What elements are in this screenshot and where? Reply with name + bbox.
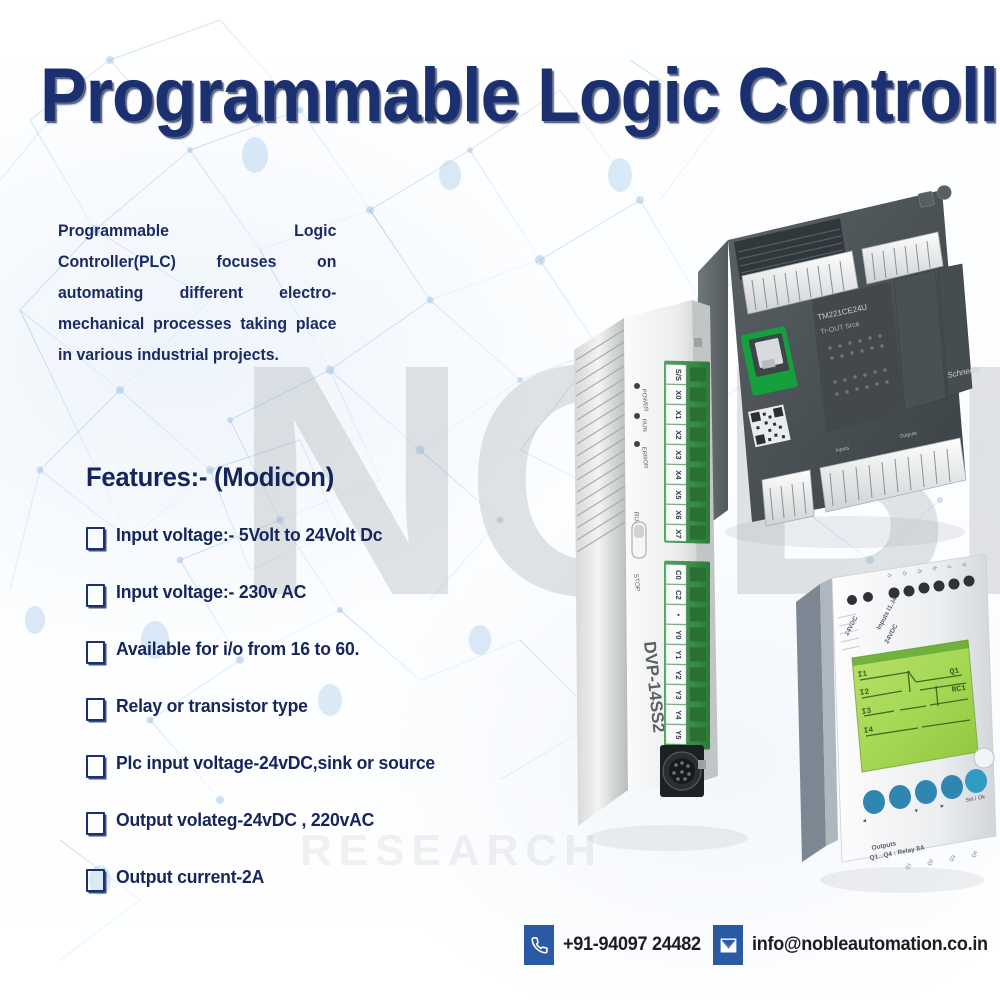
svg-text:C0: C0 [674,570,683,580]
svg-text:S/S: S/S [674,369,683,381]
svg-text:I1: I1 [857,670,868,680]
svg-text:X1: X1 [674,410,683,419]
checkbox-bullet-icon [86,641,105,664]
phone-number: +91-94097 24482 [563,934,701,956]
list-item: Plc input voltage-24vDC,sink or source [86,752,516,809]
svg-text:X7: X7 [674,529,683,538]
features-list: Input voltage:- 5Volt to 24Volt Dc Input… [86,524,516,923]
list-item: Relay or transistor type [86,695,516,752]
svg-text:Y2: Y2 [674,670,683,679]
svg-text:Q2: Q2 [927,858,936,867]
envelope-icon [713,925,743,965]
feature-label: Available for i/o from 16 to 60. [116,638,359,660]
list-item: Input voltage:- 230v AC [86,581,516,638]
svg-text:X4: X4 [674,470,683,480]
delta-input-terminal-block: S/S X0 X1 X2 X3 X4 X5 X6 X7 [664,361,710,544]
list-item: Available for i/o from 16 to 60. [86,638,516,695]
checkbox-bullet-icon [86,527,105,550]
svg-text:◄: ◄ [861,818,867,825]
feature-label: Relay or transistor type [116,695,308,717]
feature-label: Output volateg-24vDC , 220vAC [116,809,374,831]
phone-icon [524,925,554,965]
svg-text:Y5: Y5 [674,730,683,739]
svg-text:X0: X0 [674,390,683,399]
checkbox-bullet-icon [86,698,105,721]
product-image-zelio-smart-relay: I1 I2 I3 I4 C D 24VDC Inputs I1..I4 24VD… [790,540,1000,900]
checkbox-bullet-icon [86,755,105,778]
svg-text:I3: I3 [861,707,872,717]
contact-email[interactable]: info@nobleautomation.co.in [713,925,1000,965]
svg-text:Y0: Y0 [674,630,683,639]
zelio-lcd-screen: I1 I2 I3 I4 Q1 RC1 [852,640,978,772]
contact-phone[interactable]: +91-94097 24482 [524,925,708,965]
feature-label: Plc input voltage-24vDC,sink or source [116,752,435,774]
svg-text:I2: I2 [859,688,870,698]
features-heading: Features:- (Modicon) [86,462,334,493]
svg-text:Y3: Y3 [674,690,683,699]
svg-text:X3: X3 [674,450,683,459]
svg-text:X6: X6 [674,510,683,519]
list-item: Input voltage:- 5Volt to 24Volt Dc [86,524,516,581]
checkbox-bullet-icon [86,584,105,607]
product-image-delta-dvp14ss2: POWER RUN ERROR RUN STOP DVP-14SS2 [568,290,758,860]
list-item: Output current-2A [86,866,516,923]
svg-text:X5: X5 [674,490,683,499]
feature-label: Output current-2A [116,866,264,888]
svg-text:C2: C2 [674,590,683,600]
checkbox-bullet-icon [86,869,105,892]
delta-rs232-port [660,745,704,797]
poster-canvas: NOBLE RESEARCH Programmable Logic Contro… [0,0,1000,1000]
svg-text:I4: I4 [863,726,874,736]
svg-text:Q4: Q4 [971,850,980,859]
checkbox-bullet-icon [86,812,105,835]
svg-text:X2: X2 [674,430,683,439]
svg-text:Y4: Y4 [674,710,683,720]
delta-output-terminal-block: C0 C2 • Y0 Y1 Y2 Y3 Y4 Y5 [664,561,710,750]
svg-text:►: ► [939,803,945,810]
feature-label: Input voltage:- 5Volt to 24Volt Dc [116,524,382,546]
svg-text:▼: ▼ [913,808,919,815]
page-title: Programmable Logic Controllers [40,52,960,139]
list-item: Output volateg-24vDC , 220vAC [86,809,516,866]
svg-text:Q3: Q3 [949,854,958,863]
intro-paragraph: Programmable Logic Controller(PLC) focus… [58,216,336,371]
svg-text:Q1: Q1 [949,667,960,677]
email-address: info@nobleautomation.co.in [752,934,988,956]
svg-text:Y1: Y1 [674,650,683,659]
feature-label: Input voltage:- 230v AC [116,581,306,603]
